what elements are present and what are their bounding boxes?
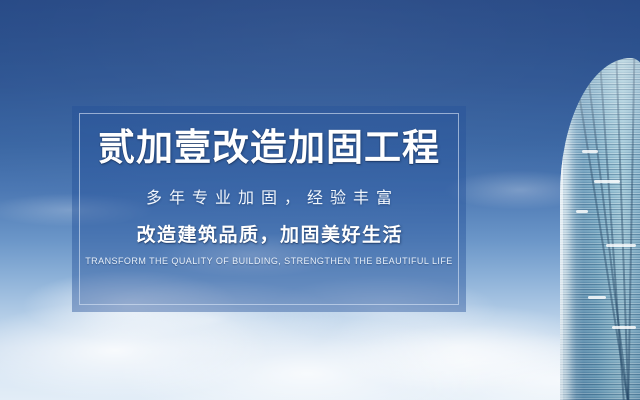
- building-glass-sheen: [560, 58, 640, 400]
- building-window-glint: [588, 296, 606, 299]
- banner-main-title: 贰加壹改造加固工程: [98, 128, 440, 168]
- banner-subtitle-english: TRANSFORM THE QUALITY OF BUILDING, STREN…: [85, 256, 453, 266]
- building-window-glint: [576, 210, 588, 213]
- building-window-glint: [612, 326, 636, 329]
- building-window-glint: [606, 244, 636, 247]
- hero-text-panel: 贰加壹改造加固工程 多年专业加固，经验丰富 改造建筑品质，加固美好生活 TRAN…: [72, 106, 466, 312]
- building-left-edge-highlight: [560, 58, 563, 400]
- building-window-glint: [594, 180, 620, 183]
- skyscraper-building: [560, 58, 640, 400]
- banner-subtitle-secondary: 改造建筑品质，加固美好生活: [135, 220, 403, 247]
- panel-content: 贰加壹改造加固工程 多年专业加固，经验丰富 改造建筑品质，加固美好生活 TRAN…: [72, 106, 466, 312]
- banner-subtitle-primary: 多年专业加固，经验丰富: [139, 184, 399, 208]
- hero-banner: 贰加壹改造加固工程 多年专业加固，经验丰富 改造建筑品质，加固美好生活 TRAN…: [0, 0, 640, 400]
- building-window-glint: [582, 150, 598, 153]
